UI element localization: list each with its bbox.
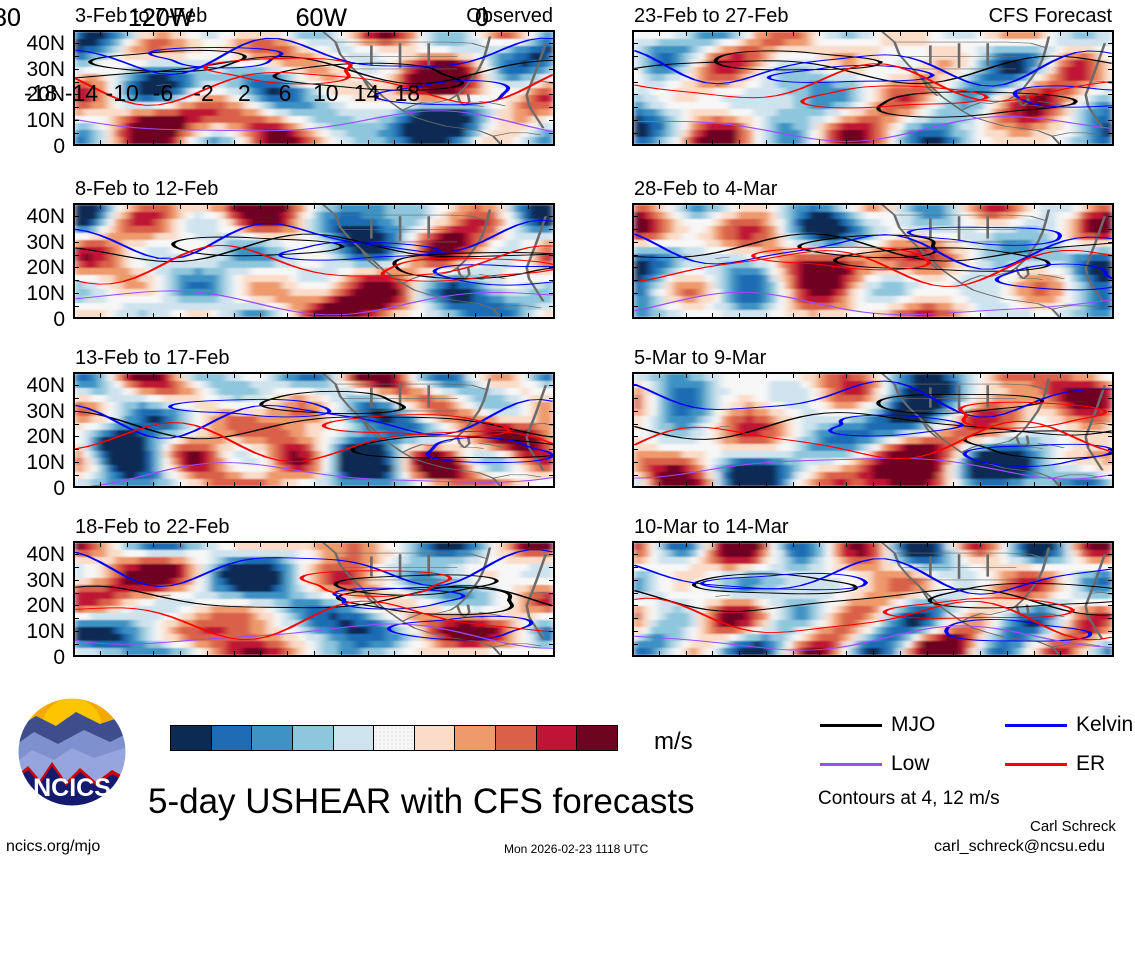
y-axis-label: 40N bbox=[26, 32, 65, 56]
colorbar-tick-label: -2 bbox=[193, 80, 213, 107]
shaded-contours bbox=[75, 374, 553, 486]
legend-line-swatch bbox=[820, 724, 882, 727]
y-axis-label: 0 bbox=[53, 308, 65, 332]
legend-line-swatch bbox=[1005, 724, 1067, 727]
map-field bbox=[73, 203, 555, 319]
colorbar-tick-label: 10 bbox=[313, 80, 339, 107]
map-panel: 18-Feb to 22-Feb40N30N20N10N0 bbox=[73, 541, 555, 657]
timestamp: Mon 2026-02-23 1118 UTC bbox=[504, 842, 648, 856]
map-field bbox=[632, 372, 1114, 488]
shear-field bbox=[634, 374, 1112, 486]
shaded-contours bbox=[634, 32, 1112, 144]
y-axis-label: 40N bbox=[26, 543, 65, 567]
legend-label: MJO bbox=[891, 713, 935, 737]
panel-title: 23-Feb to 27-Feb bbox=[634, 5, 789, 28]
colorbar-tick-label: 18 bbox=[394, 80, 420, 107]
y-axis-label: 10N bbox=[26, 109, 65, 133]
x-axis-label: 120W bbox=[128, 4, 193, 33]
colorbar-swatch bbox=[496, 726, 537, 750]
map-field bbox=[632, 30, 1114, 146]
panel-title: 8-Feb to 12-Feb bbox=[75, 178, 218, 201]
y-axis-label: 10N bbox=[26, 620, 65, 644]
y-axis-label: 0 bbox=[53, 646, 65, 670]
map-panel: 10-Mar to 14-Mar bbox=[632, 541, 1114, 657]
y-axis-label: 30N bbox=[26, 58, 65, 82]
map-panel: 13-Feb to 17-Feb40N30N20N10N0 bbox=[73, 372, 555, 488]
y-axis-label: 30N bbox=[26, 231, 65, 255]
map-field bbox=[632, 203, 1114, 319]
colorbar bbox=[170, 725, 618, 751]
x-axis-label: 180 bbox=[0, 4, 21, 33]
map-field bbox=[632, 541, 1114, 657]
legend-line-swatch bbox=[820, 763, 882, 766]
shear-field bbox=[634, 32, 1112, 144]
colorbar-swatch bbox=[252, 726, 293, 750]
x-axis-label: 60W bbox=[296, 4, 347, 33]
y-axis-label: 20N bbox=[26, 594, 65, 618]
legend-label: ER bbox=[1076, 752, 1105, 776]
panel-column-header: CFS Forecast bbox=[989, 5, 1112, 28]
shear-field bbox=[75, 543, 553, 655]
panel-title: 18-Feb to 22-Feb bbox=[75, 516, 230, 539]
shear-field bbox=[634, 543, 1112, 655]
colorbar-tick-label: -14 bbox=[65, 80, 98, 107]
shaded-contours bbox=[75, 205, 553, 317]
map-field bbox=[73, 372, 555, 488]
colorbar-tick-label: 6 bbox=[279, 80, 292, 107]
y-axis-label: 10N bbox=[26, 451, 65, 475]
legend-item: Kelvin x2 bbox=[1005, 713, 1135, 737]
shear-field bbox=[75, 205, 553, 317]
author-name: Carl Schreck bbox=[1030, 818, 1116, 835]
y-axis-label: 0 bbox=[53, 477, 65, 501]
panel-title: 28-Feb to 4-Mar bbox=[634, 178, 777, 201]
legend-label: Kelvin x2 bbox=[1076, 713, 1135, 737]
shaded-contours bbox=[634, 374, 1112, 486]
legend-item: MJO bbox=[820, 713, 935, 737]
colorbar-units-label: m/s bbox=[654, 728, 693, 756]
y-axis-label: 30N bbox=[26, 400, 65, 424]
colorbar-swatch bbox=[374, 726, 415, 750]
colorbar-swatch bbox=[455, 726, 496, 750]
colorbar-swatch bbox=[334, 726, 375, 750]
legend-item: ER bbox=[1005, 752, 1105, 776]
legend-line-swatch bbox=[1005, 763, 1067, 766]
logo-label: NCICS bbox=[33, 774, 111, 802]
x-axis-label: 0 bbox=[475, 4, 489, 33]
map-field bbox=[73, 541, 555, 657]
main-title: 5-day USHEAR with CFS forecasts bbox=[148, 782, 695, 822]
colorbar-swatch bbox=[293, 726, 334, 750]
legend-item: Low bbox=[820, 752, 930, 776]
ncics-logo: NCICS bbox=[14, 694, 130, 810]
site-url[interactable]: ncics.org/mjo bbox=[6, 838, 100, 856]
colorbar-tick-label: -18 bbox=[24, 80, 57, 107]
colorbar-tick-label: 2 bbox=[238, 80, 251, 107]
colorbar-swatch bbox=[171, 726, 212, 750]
colorbar-swatch bbox=[577, 726, 617, 750]
panel-title: 5-Mar to 9-Mar bbox=[634, 347, 766, 370]
y-axis-label: 0 bbox=[53, 135, 65, 159]
map-panel: 5-Mar to 9-Mar bbox=[632, 372, 1114, 488]
colorbar-tick-label: -10 bbox=[106, 80, 139, 107]
panel-title: 13-Feb to 17-Feb bbox=[75, 347, 230, 370]
legend-label: Low bbox=[891, 752, 930, 776]
y-axis-label: 20N bbox=[26, 425, 65, 449]
colorbar-swatch bbox=[212, 726, 253, 750]
y-axis-label: 30N bbox=[26, 569, 65, 593]
shear-field bbox=[634, 205, 1112, 317]
panel-title: 10-Mar to 14-Mar bbox=[634, 516, 789, 539]
colorbar-tick-label: 14 bbox=[354, 80, 380, 107]
y-axis-label: 10N bbox=[26, 282, 65, 306]
y-axis-label: 20N bbox=[26, 256, 65, 280]
colorbar-swatch bbox=[415, 726, 456, 750]
shear-field bbox=[75, 374, 553, 486]
colorbar-swatch bbox=[537, 726, 578, 750]
contour-interval-note: Contours at 4, 12 m/s bbox=[818, 788, 1000, 810]
map-panel: 23-Feb to 27-FebCFS Forecast bbox=[632, 30, 1114, 146]
y-axis-label: 40N bbox=[26, 374, 65, 398]
colorbar-tick-label: -6 bbox=[153, 80, 173, 107]
map-panel: 8-Feb to 12-Feb40N30N20N10N0 bbox=[73, 203, 555, 319]
map-panel: 28-Feb to 4-Mar bbox=[632, 203, 1114, 319]
y-axis-label: 40N bbox=[26, 205, 65, 229]
shaded-contours bbox=[634, 543, 1112, 655]
author-email: carl_schreck@ncsu.edu bbox=[934, 838, 1105, 856]
